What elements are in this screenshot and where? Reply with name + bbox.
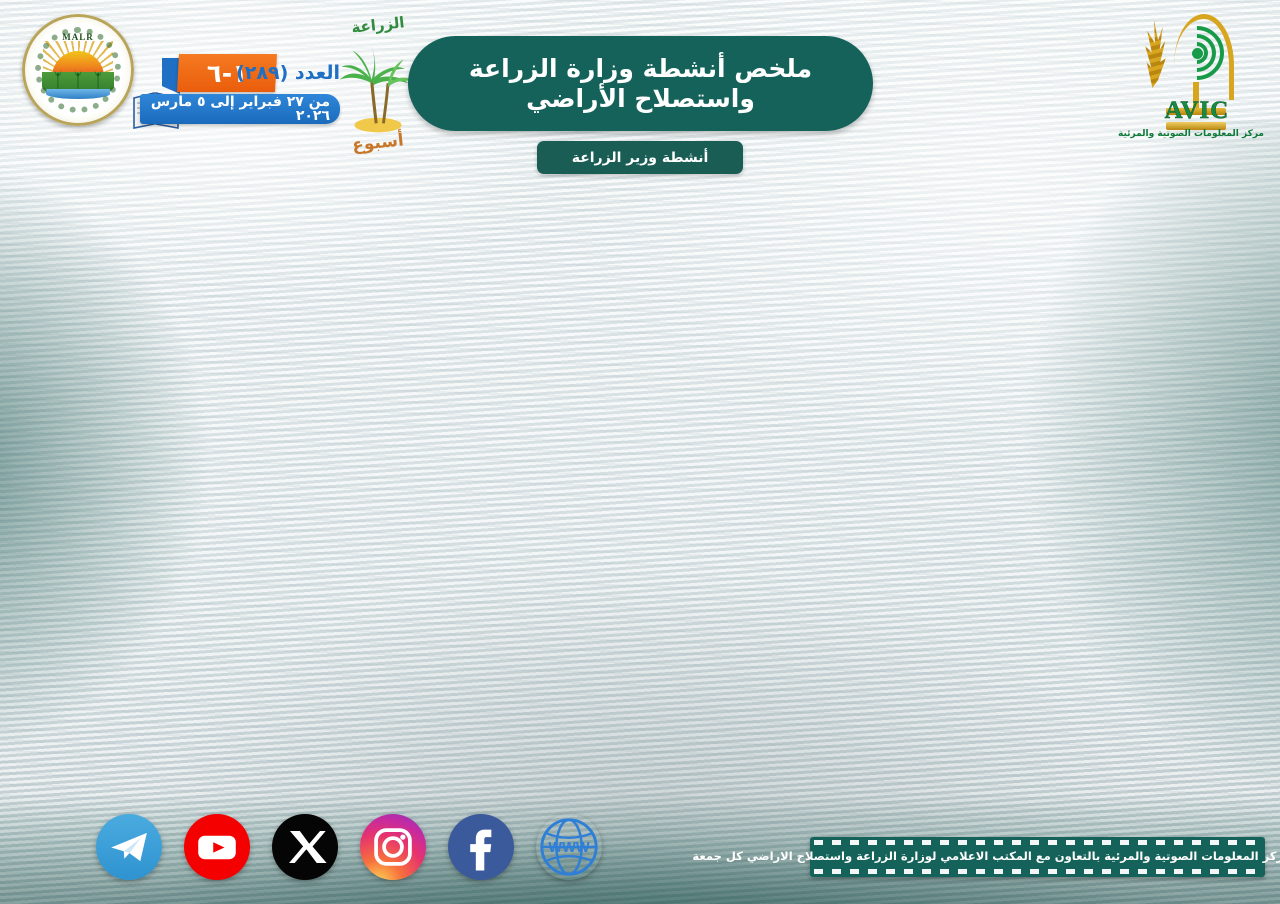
poster-header: MALR ١-٦ العدد (٢٨٩) من ٢٧ فبراير إلى ٥ … <box>0 0 1280 185</box>
issue-block: ١-٦ العدد (٢٨٩) من ٢٧ فبراير إلى ٥ مارس … <box>140 52 340 134</box>
avic-caption: مركز المعلومات الصوتية والمرئية <box>1126 130 1264 139</box>
poster-subtitle-pill: أنشطة وزير الزراعة <box>537 141 743 174</box>
avic-wordmark: AVIC <box>1160 98 1234 123</box>
issue-date-range: من ٢٧ فبراير إلى ٥ مارس ٢٠٢٦ <box>140 94 340 124</box>
issue-number-label: العدد (٢٨٩) <box>170 56 340 90</box>
footer-banner-text: اصدار اسبوعي لمركز المعلومات الصوتية وال… <box>692 851 1280 863</box>
footer-banner: اصدار اسبوعي لمركز المعلومات الصوتية وال… <box>810 837 1265 877</box>
newsletter-poster: MALR ١-٦ العدد (٢٨٩) من ٢٧ فبراير إلى ٥ … <box>0 0 1280 904</box>
svg-text:WWW: WWW <box>548 840 589 856</box>
poster-title-pill: ملخص أنشطة وزارة الزراعة واستصلاح الأراض… <box>408 36 873 131</box>
palm-logo-word-top: الزراعة <box>329 13 426 38</box>
section-subtitle: أنشطة وزير الزراعة <box>572 151 709 165</box>
logo-ring <box>22 14 134 126</box>
x-twitter-icon[interactable] <box>272 814 338 880</box>
wheat-stalk-icon <box>1142 20 1168 88</box>
avic-arc-shape <box>1174 14 1234 100</box>
telegram-icon[interactable] <box>96 814 162 880</box>
facebook-icon[interactable] <box>448 814 514 880</box>
youtube-icon[interactable] <box>184 814 250 880</box>
malr-ministry-logo: MALR <box>22 14 134 126</box>
social-links-row: WWW <box>96 814 602 880</box>
instagram-icon[interactable] <box>360 814 426 880</box>
background-green-left <box>0 150 220 770</box>
page-title: ملخص أنشطة وزارة الزراعة واستصلاح الأراض… <box>408 54 873 114</box>
avic-logo: AVIC مركز المعلومات الصوتية والمرئية <box>1130 6 1262 138</box>
website-icon[interactable]: WWW <box>536 814 602 880</box>
